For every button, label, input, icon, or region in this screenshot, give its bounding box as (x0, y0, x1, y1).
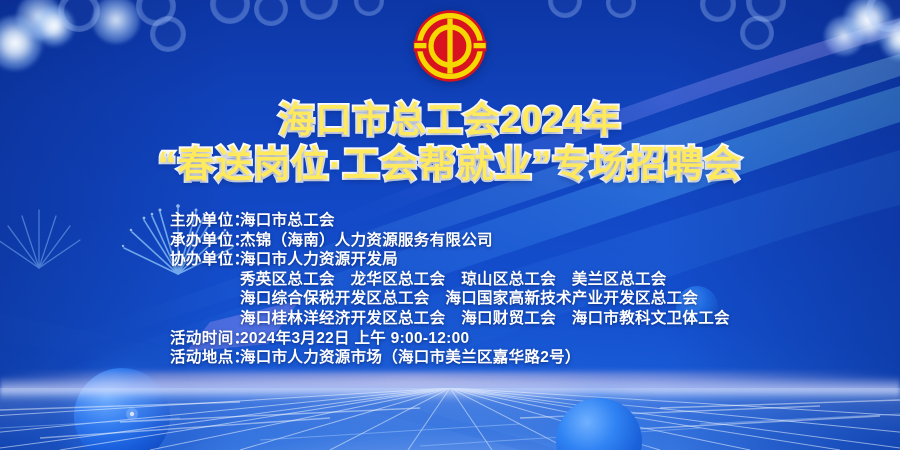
info-row-value: 海口桂林洋经济开发区总工会 海口财贸工会 海口市教科文卫体工会 (240, 309, 730, 329)
info-row: 活动地点：海口市人力资源市场（海口市美兰区嘉华路2号） (170, 348, 730, 368)
info-row-value: 杰锦（海南）人力资源服务有限公司 (240, 231, 730, 251)
info-row-label: 活动时间： (170, 329, 240, 349)
info-row-value: 海口市人力资源市场（海口市美兰区嘉华路2号） (240, 348, 730, 368)
info-row-value: 海口市总工会 (240, 211, 730, 231)
info-row: 承办单位：杰锦（海南）人力资源服务有限公司 (170, 231, 730, 251)
info-row-value: 海口市人力资源开发局 (240, 250, 730, 270)
info-row-value: 海口综合保税开发区总工会 海口国家高新技术产业开发区总工会 (240, 289, 730, 309)
info-row: 协办单位：海口市人力资源开发局 (170, 250, 730, 270)
info-row-value: 秀英区总工会 龙华区总工会 琼山区总工会 美兰区总工会 (240, 270, 730, 290)
info-row-value: 2024年3月22日 上午 9:00-12:00 (240, 329, 730, 349)
info-row-label: 活动地点： (170, 348, 240, 368)
emblem-container (0, 8, 900, 84)
info-row: 主办单位：海口综合保税开发区总工会 海口国家高新技术产业开发区总工会 (170, 289, 730, 309)
info-row: 主办单位：海口市总工会 (170, 211, 730, 231)
info-row-label: 主办单位： (170, 211, 240, 231)
page-title-line1: 海口市总工会2024年 (0, 100, 900, 140)
event-info-block: 主办单位：海口市总工会承办单位：杰锦（海南）人力资源服务有限公司协办单位：海口市… (0, 211, 900, 368)
info-row-label: 承办单位： (170, 231, 240, 251)
info-rows: 主办单位：海口市总工会承办单位：杰锦（海南）人力资源服务有限公司协办单位：海口市… (170, 211, 730, 368)
perspective-speed-lines (0, 388, 900, 450)
info-row: 主办单位：秀英区总工会 龙华区总工会 琼山区总工会 美兰区总工会 (170, 270, 730, 290)
acftu-union-emblem-icon (412, 8, 488, 84)
info-row-label: 协办单位： (170, 250, 240, 270)
recruitment-poster: 海口市总工会2024年 “春送岗位·工会帮就业”专场招聘会 主办单位：海口市总工… (0, 0, 900, 450)
info-row: 主办单位：海口桂林洋经济开发区总工会 海口财贸工会 海口市教科文卫体工会 (170, 309, 730, 329)
poster-titles: 海口市总工会2024年 “春送岗位·工会帮就业”专场招聘会 (0, 100, 900, 186)
info-row: 活动时间：2024年3月22日 上午 9:00-12:00 (170, 329, 730, 349)
speed-lines-svg (0, 388, 900, 450)
page-title-line2: “春送岗位·工会帮就业”专场招聘会 (0, 144, 900, 185)
